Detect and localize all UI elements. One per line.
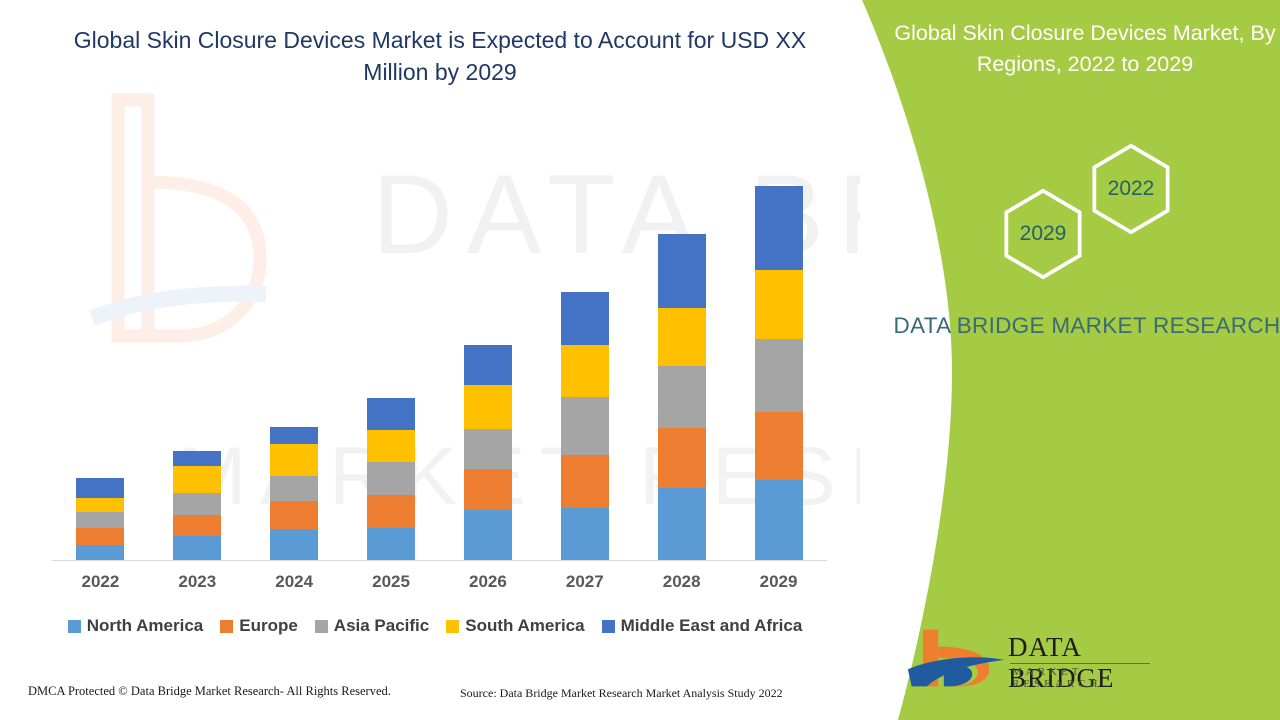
bar-segment: [464, 429, 512, 469]
green-panel-content: Global Skin Closure Devices Market, By R…: [900, 0, 1280, 720]
bar-segment: [755, 339, 803, 412]
bar-segment: [561, 345, 609, 397]
bar-column: [755, 186, 803, 560]
bar-segment: [367, 495, 415, 528]
bar-segment: [76, 528, 124, 545]
bar-segment: [755, 270, 803, 339]
bar-segment: [173, 536, 221, 560]
bar-segment: [755, 480, 803, 560]
bar-segment: [561, 292, 609, 345]
bar-segment: [561, 397, 609, 455]
x-axis-label: 2025: [351, 572, 431, 592]
bar-segment: [367, 430, 415, 462]
panel-title: Global Skin Closure Devices Market, By R…: [890, 18, 1280, 80]
bar-segment: [76, 545, 124, 560]
bar-segment: [270, 501, 318, 529]
bar-segment: [755, 186, 803, 270]
legend-swatch-icon: [68, 620, 81, 633]
bar-segment: [173, 515, 221, 536]
x-axis-label: 2029: [739, 572, 819, 592]
chart-title: Global Skin Closure Devices Market is Ex…: [60, 24, 820, 88]
legend-swatch-icon: [315, 620, 328, 633]
bar-segment: [367, 398, 415, 430]
bar-segment: [464, 385, 512, 429]
bar-segment: [173, 451, 221, 466]
x-axis-label: 2023: [157, 572, 237, 592]
bar-segment: [658, 366, 706, 428]
logo-divider: [1010, 663, 1150, 664]
x-axis-label: 2024: [254, 572, 334, 592]
bar-segment: [76, 478, 124, 498]
logo-sub-text: MARKET RESEARCH: [1012, 666, 1150, 690]
bar-segment: [464, 345, 512, 385]
legend-label: Middle East and Africa: [621, 616, 803, 636]
bar-segment: [173, 466, 221, 493]
hexagon-2022-label: 2022: [1108, 177, 1155, 201]
legend-item[interactable]: Europe: [220, 616, 298, 636]
infographic-root: DATA BRIDGE MARKET RESEARCH Global Skin …: [0, 0, 1280, 720]
chart-legend: North AmericaEuropeAsia PacificSouth Ame…: [40, 616, 830, 636]
bar-segment: [658, 234, 706, 308]
chart-plot: [52, 120, 827, 561]
legend-swatch-icon: [446, 620, 459, 633]
bar-segment: [658, 488, 706, 560]
legend-label: Asia Pacific: [334, 616, 429, 636]
legend-label: South America: [465, 616, 584, 636]
bar-segment: [464, 510, 512, 560]
hexagon-2029-label: 2029: [1020, 222, 1067, 246]
legend-label: North America: [87, 616, 204, 636]
bar-column: [270, 427, 318, 560]
legend-item[interactable]: Asia Pacific: [315, 616, 429, 636]
legend-item[interactable]: South America: [446, 616, 584, 636]
chart-area: [52, 120, 827, 562]
chart-x-axis: 20222023202420252026202720282029: [52, 572, 827, 600]
bar-segment: [658, 428, 706, 488]
x-axis-label: 2022: [60, 572, 140, 592]
bar-segment: [561, 508, 609, 560]
bar-segment: [561, 455, 609, 508]
footer-dmca-notice: DMCA Protected © Data Bridge Market Rese…: [28, 684, 391, 699]
bar-column: [173, 451, 221, 560]
bar-segment: [270, 529, 318, 560]
bar-segment: [658, 308, 706, 366]
data-bridge-logo: DATA BRIDGE MARKET RESEARCH: [900, 620, 1150, 700]
bar-segment: [76, 512, 124, 528]
brand-name: DATA BRIDGE MARKET RESEARCH: [892, 310, 1280, 342]
bar-column: [464, 345, 512, 560]
bar-column: [367, 398, 415, 560]
bar-column: [76, 478, 124, 560]
bar-segment: [270, 427, 318, 444]
x-axis-label: 2027: [545, 572, 625, 592]
chart-baseline: [52, 560, 827, 561]
bar-column: [658, 234, 706, 560]
bar-column: [561, 292, 609, 560]
bar-segment: [270, 444, 318, 476]
legend-swatch-icon: [602, 620, 615, 633]
bar-segment: [755, 412, 803, 480]
legend-label: Europe: [239, 616, 298, 636]
hexagon-year-2029: 2029: [996, 187, 1090, 281]
logo-mark-icon: [906, 622, 1010, 694]
legend-swatch-icon: [220, 620, 233, 633]
x-axis-label: 2026: [448, 572, 528, 592]
bar-segment: [367, 462, 415, 495]
bar-segment: [173, 493, 221, 515]
legend-item[interactable]: Middle East and Africa: [602, 616, 803, 636]
footer-source-note: Source: Data Bridge Market Research Mark…: [460, 686, 783, 701]
bar-segment: [270, 476, 318, 501]
x-axis-label: 2028: [642, 572, 722, 592]
bar-segment: [367, 528, 415, 560]
hexagon-year-2022: 2022: [1084, 142, 1178, 236]
bar-segment: [76, 498, 124, 512]
bar-segment: [464, 469, 512, 510]
legend-item[interactable]: North America: [68, 616, 204, 636]
